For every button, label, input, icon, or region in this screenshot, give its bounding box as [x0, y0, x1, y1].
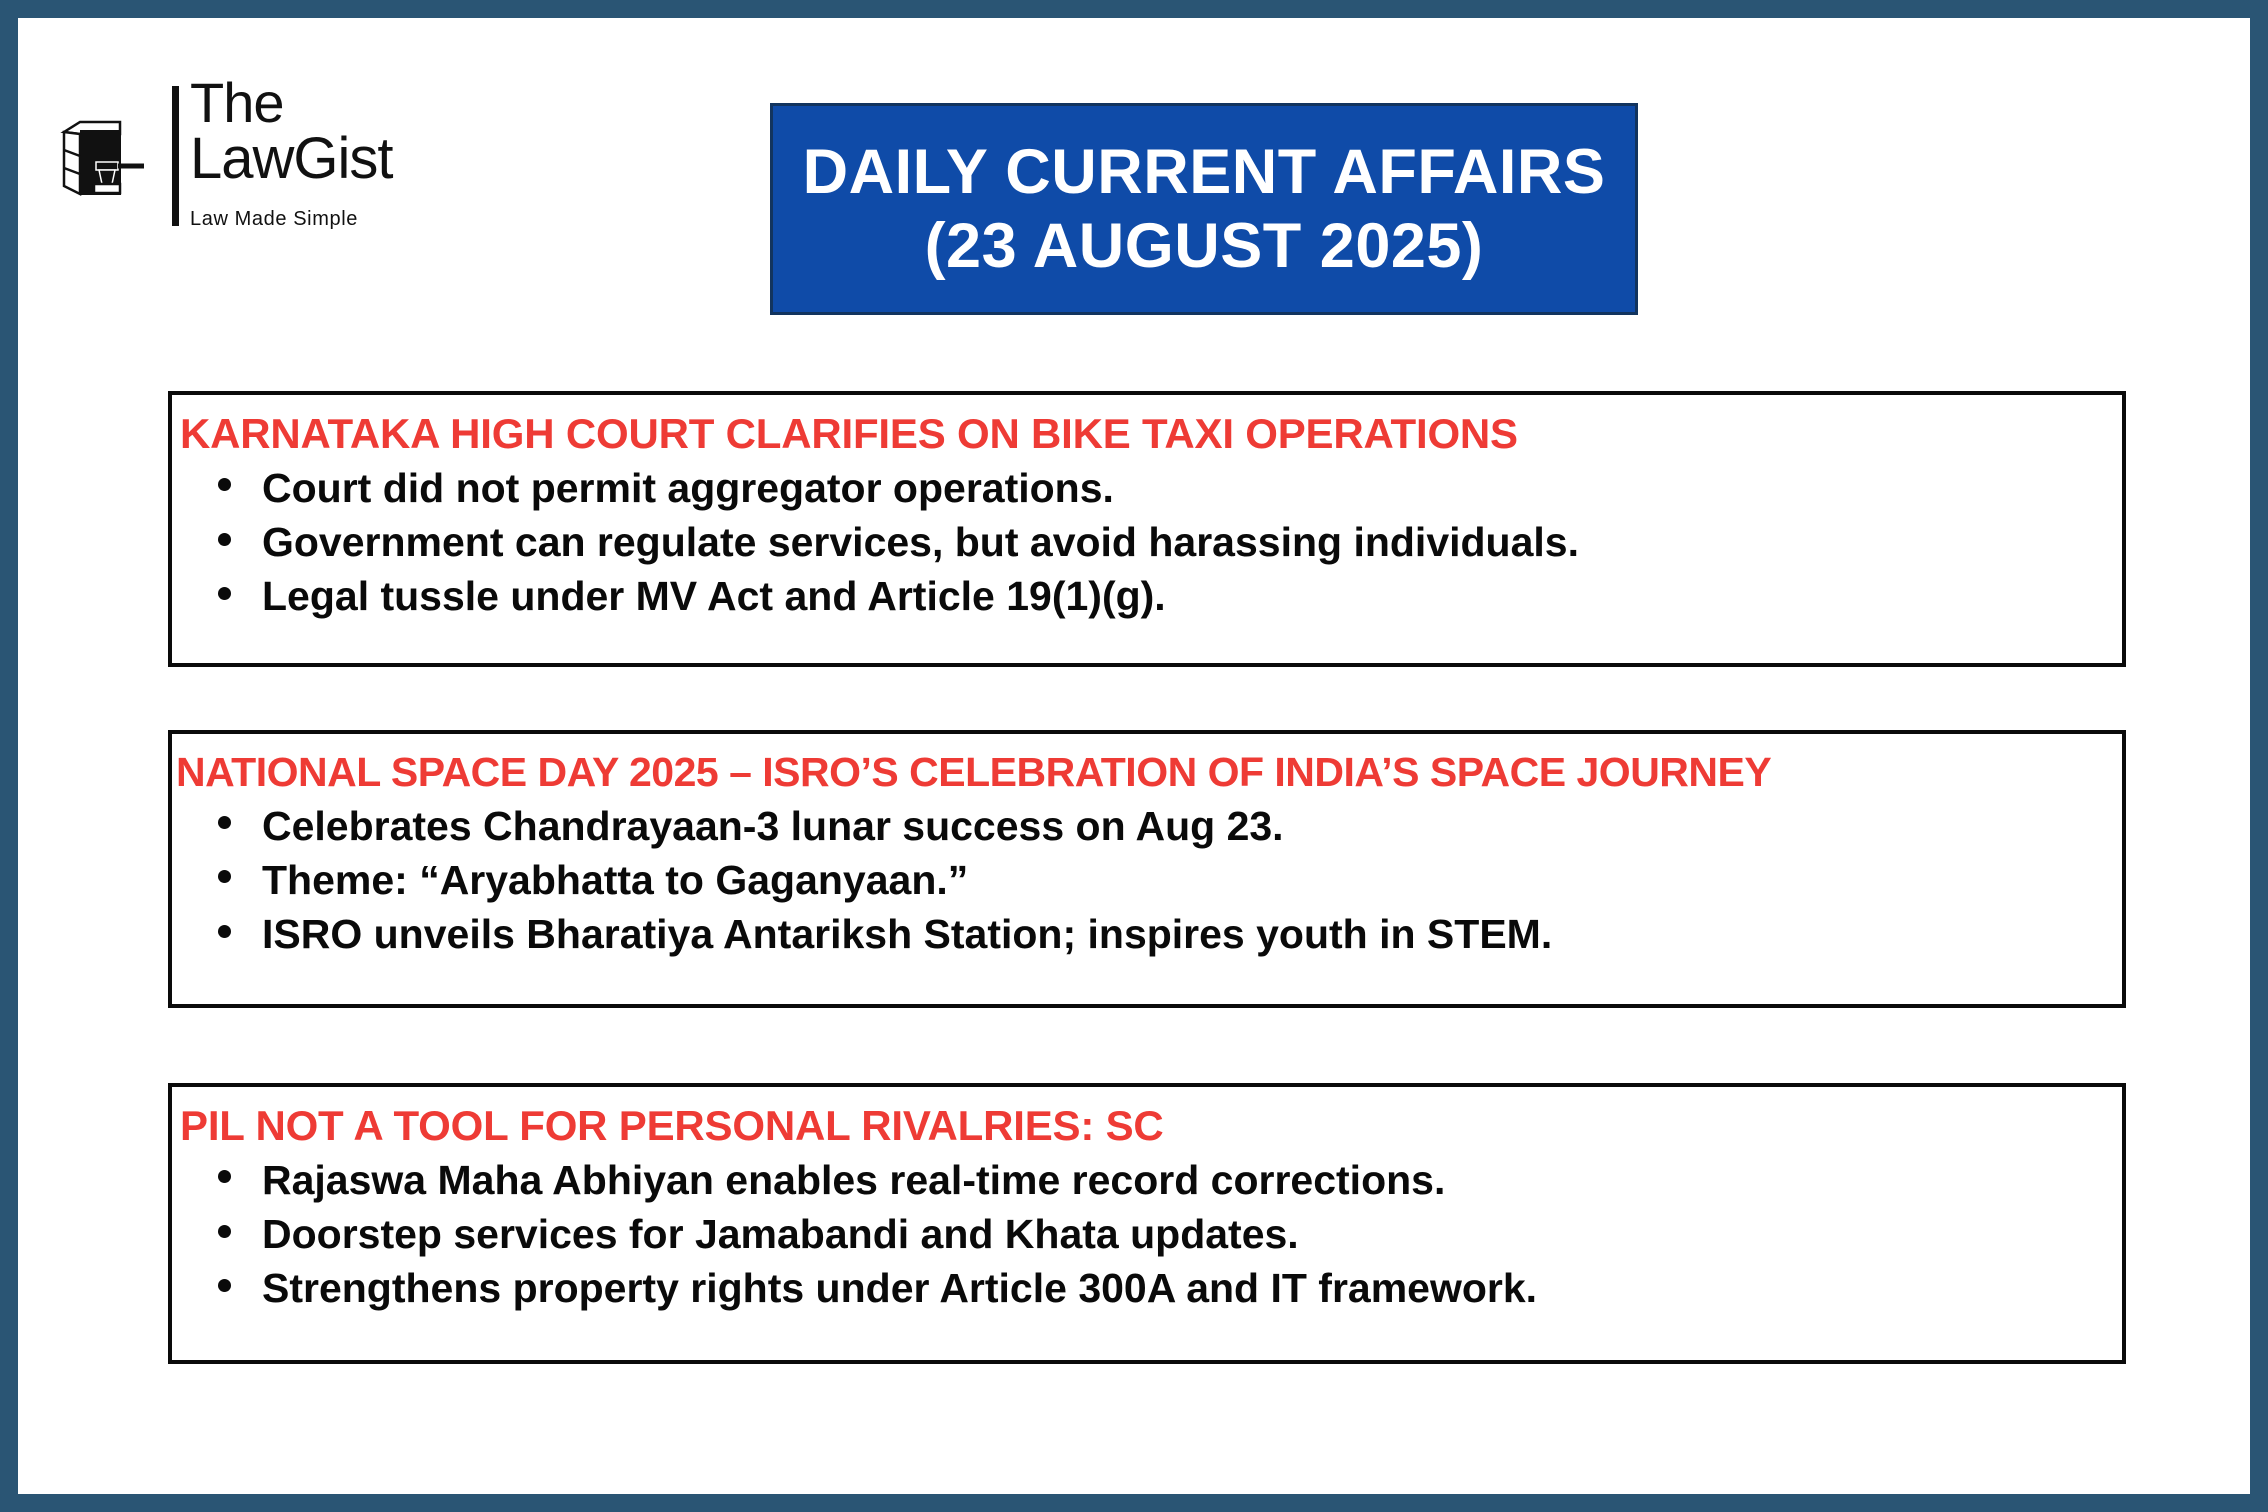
bullet-dot-icon: [218, 870, 231, 883]
logo-tagline: Law Made Simple: [190, 208, 358, 231]
brand-logo: The LawGist Law Made Simple: [50, 80, 380, 230]
slide-inner: The LawGist Law Made Simple DAILY CURREN…: [18, 18, 2250, 1494]
list-item-text: ISRO unveils Bharatiya Antariksh Station…: [262, 911, 1552, 957]
list-item-text: Government can regulate services, but av…: [262, 519, 1579, 565]
bullet-dot-icon: [218, 533, 231, 546]
list-item-text: Theme: “Aryabhatta to Gaganyaan.”: [262, 857, 968, 903]
section-bullet-list: Court did not permit aggregator operatio…: [172, 461, 2122, 623]
logo-word-the: The: [190, 76, 390, 131]
section-heading: PIL NOT A TOOL FOR PERSONAL RIVALRIES: S…: [172, 1097, 2122, 1153]
title-line-1: DAILY CURRENT AFFAIRS: [803, 135, 1606, 209]
logo-word-lawgist: LawGist: [190, 131, 390, 188]
list-item: Celebrates Chandrayaan-3 lunar success o…: [172, 799, 2122, 853]
list-item-text: Strengthens property rights under Articl…: [262, 1265, 1537, 1311]
slide-header: The LawGist Law Made Simple DAILY CURREN…: [18, 18, 2250, 318]
bullet-dot-icon: [218, 925, 231, 938]
list-item: Theme: “Aryabhatta to Gaganyaan.”: [172, 853, 2122, 907]
title-line-2: (23 AUGUST 2025): [925, 209, 1484, 283]
list-item: Legal tussle under MV Act and Article 19…: [172, 569, 2122, 623]
bullet-dot-icon: [218, 1170, 231, 1183]
list-item-text: Celebrates Chandrayaan-3 lunar success o…: [262, 803, 1284, 849]
bullet-dot-icon: [218, 1279, 231, 1292]
title-banner: DAILY CURRENT AFFAIRS (23 AUGUST 2025): [770, 103, 1638, 315]
section-heading: KARNATAKA HIGH COURT CLARIFIES ON BIKE T…: [172, 405, 2122, 461]
section-bullet-list: Rajaswa Maha Abhiyan enables real-time r…: [172, 1153, 2122, 1315]
list-item-text: Doorstep services for Jamabandi and Khat…: [262, 1211, 1299, 1257]
bullet-dot-icon: [218, 478, 231, 491]
list-item: Strengthens property rights under Articl…: [172, 1261, 2122, 1315]
bullet-dot-icon: [218, 1225, 231, 1238]
bullet-dot-icon: [218, 587, 231, 600]
section-heading: NATIONAL SPACE DAY 2025 – ISRO’S CELEBRA…: [172, 744, 2122, 799]
list-item-text: Court did not permit aggregator operatio…: [262, 465, 1114, 511]
list-item: Government can regulate services, but av…: [172, 515, 2122, 569]
bullet-dot-icon: [218, 816, 231, 829]
news-section-1: KARNATAKA HIGH COURT CLARIFIES ON BIKE T…: [168, 391, 2126, 667]
list-item: Doorstep services for Jamabandi and Khat…: [172, 1207, 2122, 1261]
book-and-chess-rook-icon: [58, 116, 144, 200]
list-item: Court did not permit aggregator operatio…: [172, 461, 2122, 515]
list-item: Rajaswa Maha Abhiyan enables real-time r…: [172, 1153, 2122, 1207]
list-item-text: Legal tussle under MV Act and Article 19…: [262, 573, 1166, 619]
news-section-3: PIL NOT A TOOL FOR PERSONAL RIVALRIES: S…: [168, 1083, 2126, 1364]
list-item-text: Rajaswa Maha Abhiyan enables real-time r…: [262, 1157, 1445, 1203]
section-bullet-list: Celebrates Chandrayaan-3 lunar success o…: [172, 799, 2122, 961]
news-section-2: NATIONAL SPACE DAY 2025 – ISRO’S CELEBRA…: [168, 730, 2126, 1008]
logo-divider-line: [172, 86, 179, 226]
logo-wordmark: The LawGist: [190, 76, 390, 188]
list-item: ISRO unveils Bharatiya Antariksh Station…: [172, 907, 2122, 961]
slide-page: The LawGist Law Made Simple DAILY CURREN…: [0, 0, 2268, 1512]
